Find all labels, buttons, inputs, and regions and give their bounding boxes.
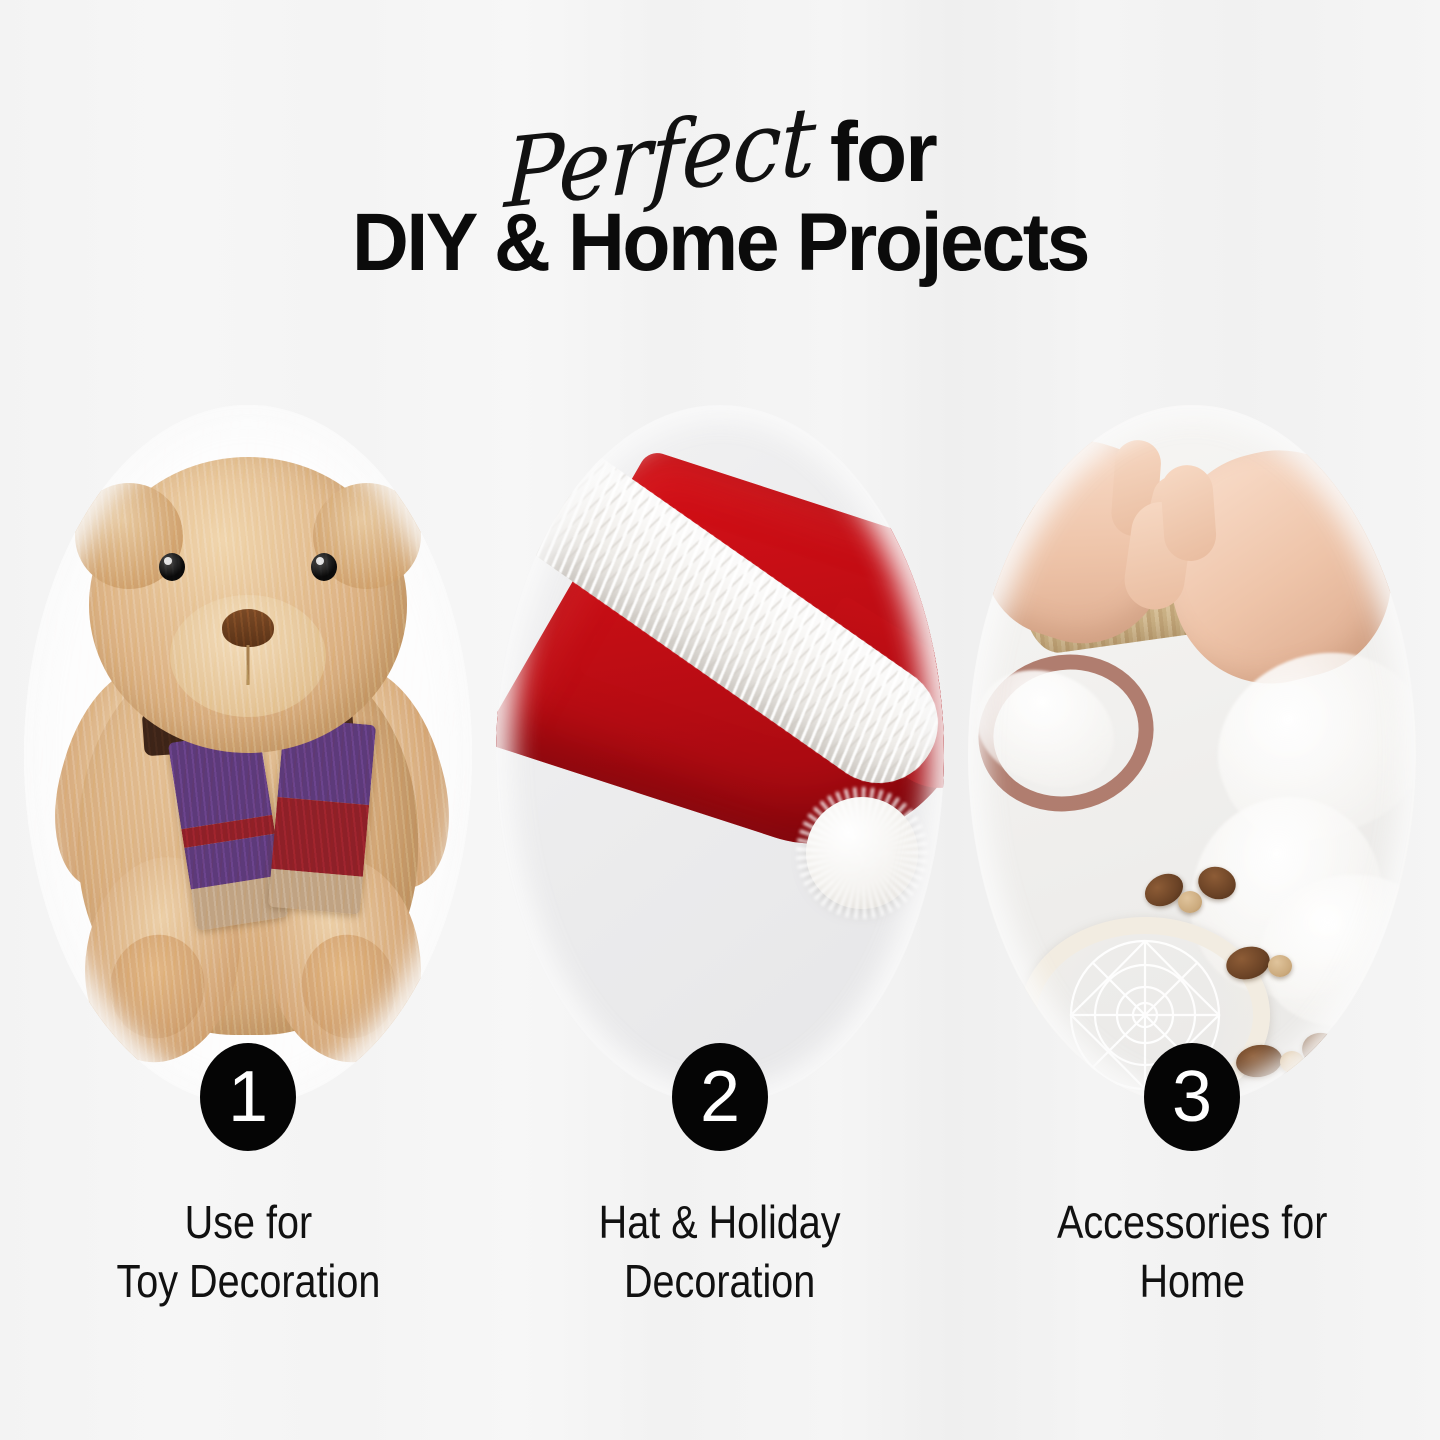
- caption-line-2: Decoration: [599, 1252, 841, 1311]
- bear-head: [89, 457, 407, 753]
- headline-line-1: Perfect for: [0, 78, 1440, 196]
- caption-line-1: Hat & Holiday: [599, 1193, 841, 1252]
- caption-line-2: Toy Decoration: [116, 1252, 380, 1311]
- feature-card-2: 2 Hat & Holiday Decoration: [496, 405, 944, 1311]
- step-badge-1: 1: [200, 1043, 296, 1151]
- oval-image-wrap-3: 3: [968, 405, 1416, 1105]
- santa-hat-photo: [496, 405, 944, 1105]
- feature-cards-row: 1 Use for Toy Decoration 2 Hat & Holiday…: [0, 405, 1440, 1311]
- feature-card-1: 1 Use for Toy Decoration: [24, 405, 472, 1311]
- feature-caption-1: Use for Toy Decoration: [116, 1193, 380, 1311]
- feature-caption-3: Accessories for Home: [1057, 1193, 1327, 1311]
- bear-nose: [222, 609, 274, 647]
- santa-hat-pom-pom: [806, 797, 918, 909]
- feature-card-3: 3 Accessories for Home: [968, 405, 1416, 1311]
- teddy-bear-photo: [24, 405, 472, 1105]
- bear-mouth: [247, 645, 250, 685]
- step-badge-3: 3: [1144, 1043, 1240, 1151]
- wooden-bead-small-3: [1280, 1051, 1304, 1073]
- headline-line-2: DIY & Home Projects: [29, 200, 1411, 286]
- caption-line-1: Use for: [116, 1193, 380, 1252]
- finger-right-2: [1159, 463, 1218, 562]
- scarf-stripe-tan-2: [268, 869, 363, 915]
- teddy-bear-scene: [24, 405, 472, 1105]
- dreamcatcher-scene: [968, 405, 1416, 1105]
- caption-line-2: Home: [1057, 1252, 1327, 1311]
- scarf-stripe-red-2: [271, 797, 369, 877]
- oval-image-wrap-2: 2: [496, 405, 944, 1105]
- santa-hat-scene: [496, 405, 944, 1105]
- oval-image-wrap-1: 1: [24, 405, 472, 1105]
- wooden-bead-5: [1299, 1029, 1345, 1071]
- headline-bold-word: for: [830, 110, 936, 194]
- caption-line-1: Accessories for: [1057, 1193, 1327, 1252]
- dreamcatcher-craft-photo: [968, 405, 1416, 1105]
- page-headline: Perfect for DIY & Home Projects: [0, 78, 1440, 286]
- wooden-bead-small-1: [1178, 891, 1202, 913]
- step-badge-2: 2: [672, 1043, 768, 1151]
- bear-eye-right: [311, 553, 337, 581]
- bear-muzzle: [170, 595, 326, 717]
- wooden-bead-small-2: [1268, 955, 1292, 977]
- bear-eye-left: [159, 553, 185, 581]
- feature-caption-2: Hat & Holiday Decoration: [599, 1193, 841, 1311]
